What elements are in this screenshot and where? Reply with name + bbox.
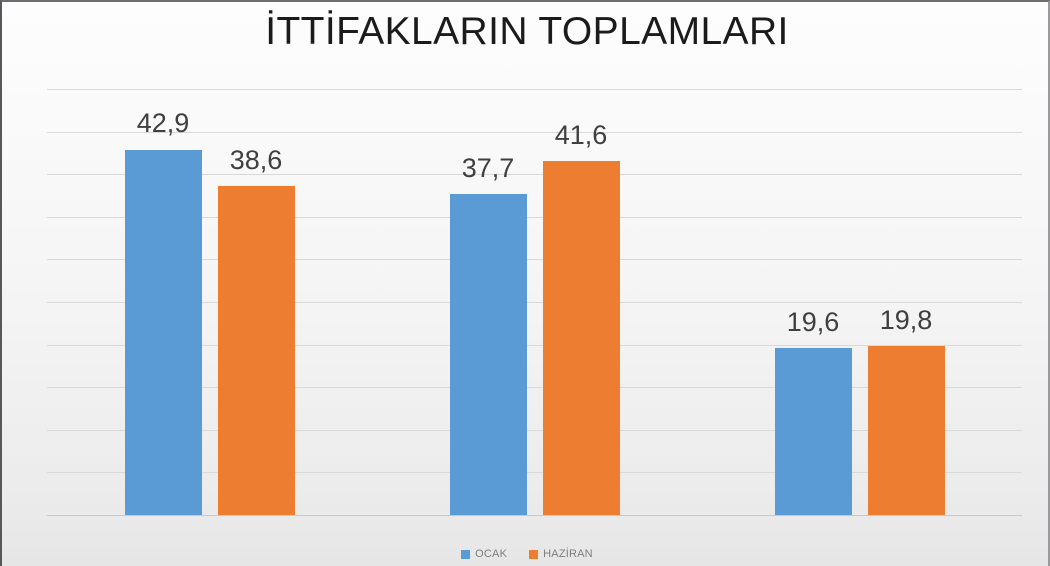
bar-value-label: 42,9: [137, 108, 190, 139]
bar[interactable]: [450, 194, 527, 515]
gridline: [47, 132, 1022, 133]
bar[interactable]: [218, 186, 295, 515]
bar-value-label: 37,7: [462, 153, 515, 184]
bar-chart: İTTİFAKLARIN TOPLAMLARI 5045403530252015…: [0, 0, 1050, 566]
gridline: [47, 89, 1022, 90]
bar-value-label: 38,6: [230, 145, 283, 176]
chart-legend: OCAKHAZİRAN: [2, 548, 1050, 560]
plot-area: 50454035302520151050 42,938,637,741,619,…: [47, 89, 1022, 515]
bar[interactable]: [868, 346, 945, 515]
bar[interactable]: [775, 348, 852, 515]
legend-swatch-icon: [461, 550, 470, 559]
gridline: [47, 515, 1022, 516]
legend-label: HAZİRAN: [543, 548, 593, 560]
chart-title: İTTİFAKLARIN TOPLAMLARI: [2, 10, 1050, 54]
bar[interactable]: [543, 161, 620, 515]
bar-value-label: 19,6: [787, 307, 840, 338]
legend-label: OCAK: [475, 548, 507, 560]
legend-swatch-icon: [529, 550, 538, 559]
bar[interactable]: [125, 150, 202, 516]
bar-value-label: 41,6: [555, 120, 608, 151]
bar-value-label: 19,8: [880, 305, 933, 336]
legend-item[interactable]: HAZİRAN: [529, 548, 593, 560]
legend-item[interactable]: OCAK: [461, 548, 507, 560]
